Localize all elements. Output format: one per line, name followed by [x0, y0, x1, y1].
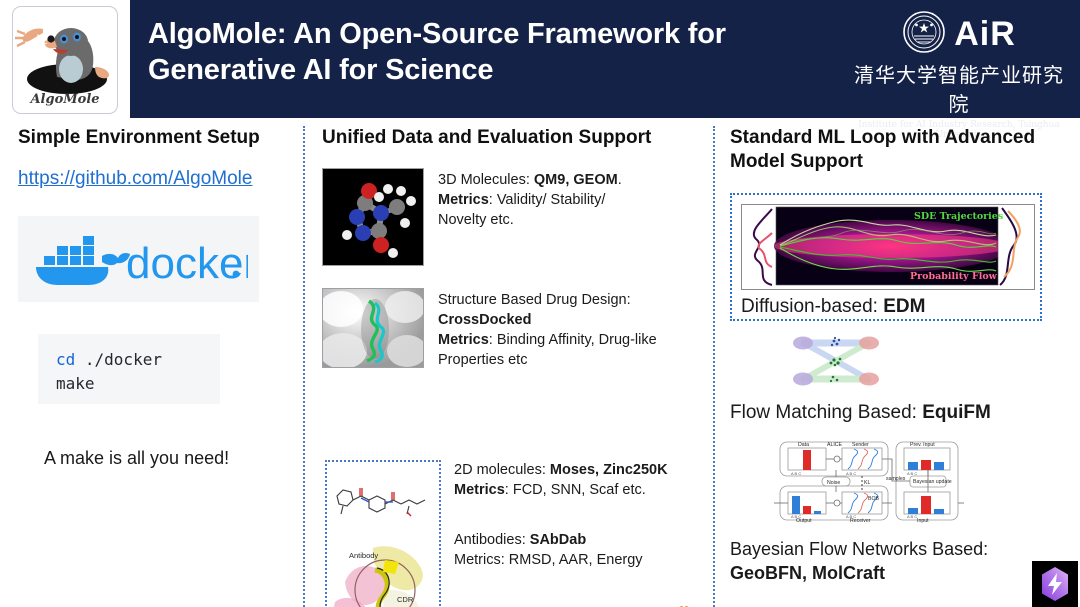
edm-caption-model: EDM [883, 296, 925, 317]
value-metrics-antibodies: Metrics: RMSD, AAR, Energy [454, 550, 694, 570]
column-standard-ml-loop: Standard ML Loop with Advanced Model Sup… [730, 126, 1066, 585]
label-metrics-2d: Metrics [454, 482, 505, 498]
svg-text:docker: docker [126, 239, 248, 288]
column-divider-right [713, 126, 715, 607]
bfn-caption-plain: Bayesian Flow Networks Based: [730, 537, 1066, 561]
poster-slide: AlgoMole: An Open-Source Framework for G… [0, 0, 1080, 607]
probability-flow-label: Probability Flow [910, 271, 998, 282]
svg-text:samples: samples [886, 476, 906, 482]
air-logo: AiR 清华大学智能产业研究院 Institute for AI Industr… [854, 10, 1064, 110]
air-wordmark: AiR [954, 15, 1016, 54]
header-banner: AlgoMole: An Open-Source Framework for G… [130, 0, 1080, 118]
column-divider-left [303, 126, 305, 607]
label-metrics-sbdd: Metrics [438, 332, 489, 348]
fm-caption-model: EquiFM [922, 402, 991, 423]
column-unified-data-evaluation: Unified Data and Evaluation Support [322, 126, 694, 370]
right-column-heading: Standard ML Loop with Advanced Model Sup… [730, 126, 1066, 175]
github-link[interactable]: https://github.com/AlgoMole [18, 168, 294, 190]
value-antibody-dataset: SAbDab [530, 532, 586, 548]
value-3d-datasets: QM9, GEOM [534, 172, 618, 188]
docker-logo-box: docker [18, 216, 259, 302]
label-metrics-3d: Metrics [438, 192, 489, 208]
flow-matching-caption: Flow Matching Based: EquiFM [730, 402, 1066, 424]
svg-text:Data: Data [798, 442, 809, 448]
air-chinese-name: 清华大学智能产业研究院 [854, 59, 1064, 117]
code-arg-path: ./docker [75, 350, 162, 369]
page-title: AlgoMole: An Open-Source Framework for G… [148, 16, 848, 89]
svg-text:KL: KL [864, 480, 870, 486]
molecule-3d-thumb [322, 168, 424, 266]
docker-logo-icon: docker [30, 226, 248, 293]
terminal-code-block: cd ./docker make [38, 334, 220, 404]
spark-hexagon-logo-icon [1032, 561, 1078, 607]
edm-panel: SDE Trajectories Probability Flow Diffus… [730, 193, 1042, 321]
code-line-1: cd ./docker [56, 348, 220, 371]
label-2d-molecules: 2D molecules: [454, 462, 550, 478]
svg-text:Prev. Input: Prev. Input [910, 442, 935, 448]
svg-text:A B C: A B C [846, 514, 856, 519]
svg-text:BOB: BOB [868, 496, 879, 502]
sde-trajectories-figure: SDE Trajectories Probability Flow [741, 204, 1035, 290]
edm-caption: Diffusion-based: EDM [741, 296, 1031, 318]
left-column-tagline: A make is all you need! [44, 448, 294, 469]
svg-text:A B C: A B C [846, 471, 856, 476]
value-metrics-sbdd-cont: Properties etc [438, 350, 657, 370]
bfn-caption: Bayesian Flow Networks Based: GeoBFN, Mo… [730, 537, 1066, 586]
dataset-item-2d-text: 2D molecules: Moses, Zinc250K Metrics: F… [454, 460, 694, 500]
protein-pocket-thumb [322, 288, 424, 368]
svg-text:Antibody: Antibody [349, 551, 378, 560]
label-sbdd: Structure Based Drug Design: [438, 290, 657, 310]
value-metrics-3d-cont: Novelty etc. [438, 210, 622, 230]
algomole-logo-caption: AlgoMole [13, 92, 117, 107]
algomole-logo-card: AlgoMole [12, 6, 118, 114]
fm-caption-plain: Flow Matching Based: [730, 402, 922, 423]
svg-text:CDR: CDR [397, 595, 414, 604]
sde-trajectories-label: SDE Trajectories [914, 211, 1003, 222]
label-antibodies: Antibodies: [454, 532, 530, 548]
left-column-heading: Simple Environment Setup [18, 126, 294, 150]
column-simple-environment-setup: Simple Environment Setup https://github.… [18, 126, 294, 469]
svg-text:Bayesian update: Bayesian update [913, 479, 952, 485]
svg-text:Noise: Noise [827, 480, 840, 486]
svg-text:A B C: A B C [907, 471, 917, 476]
value-2d-datasets: Moses, Zinc250K [550, 462, 668, 478]
middle-column-heading: Unified Data and Evaluation Support [322, 126, 694, 150]
code-keyword-cd: cd [56, 350, 75, 369]
value-metrics-2d: : FCD, SNN, Scaf etc. [505, 482, 646, 498]
dataset-item-3d-molecules: 3D Molecules: QM9, GEOM. Metrics: Validi… [322, 168, 694, 266]
label-3d-molecules: 3D Molecules: [438, 172, 534, 188]
equivariant-flow-graph-icon [788, 333, 1066, 394]
code-line-2: make [56, 372, 220, 395]
value-metrics-3d: : Validity/ Stability/ [489, 192, 606, 208]
dataset-item-3d-text: 3D Molecules: QM9, GEOM. Metrics: Validi… [438, 168, 622, 230]
under-review-thumb-box: Antibody CDR Antigen Antibody-Antigen Co… [325, 460, 441, 607]
dataset-item-antibodies-text: Antibodies: SAbDab Metrics: RMSD, AAR, E… [454, 530, 694, 570]
dataset-item-sbdd-text: Structure Based Drug Design: CrossDocked… [438, 288, 657, 370]
period-3d: . [618, 172, 622, 188]
polyhedron-logo-icon [660, 602, 708, 607]
svg-text:A B C: A B C [907, 514, 917, 519]
tsinghua-seal-icon [902, 10, 946, 59]
edm-caption-plain: Diffusion-based: [741, 296, 883, 317]
svg-text:Sender: Sender [852, 442, 869, 448]
svg-text:A B C: A B C [791, 514, 801, 519]
bayesian-flow-network-diagram-icon: Data ALICE Sender Prev. Input Noise KL s… [770, 436, 1066, 529]
value-metrics-sbdd: : Binding Affinity, Drug-like [489, 332, 657, 348]
value-sbdd-dataset: CrossDocked [438, 312, 531, 328]
bfn-caption-models: GeoBFN, MolCraft [730, 563, 885, 583]
dataset-item-sbdd: Structure Based Drug Design: CrossDocked… [322, 288, 694, 370]
svg-text:A B C: A B C [791, 471, 801, 476]
svg-text:Input: Input [917, 518, 929, 524]
svg-text:ALICE: ALICE [827, 442, 843, 448]
mole-logo-icon [13, 7, 117, 103]
